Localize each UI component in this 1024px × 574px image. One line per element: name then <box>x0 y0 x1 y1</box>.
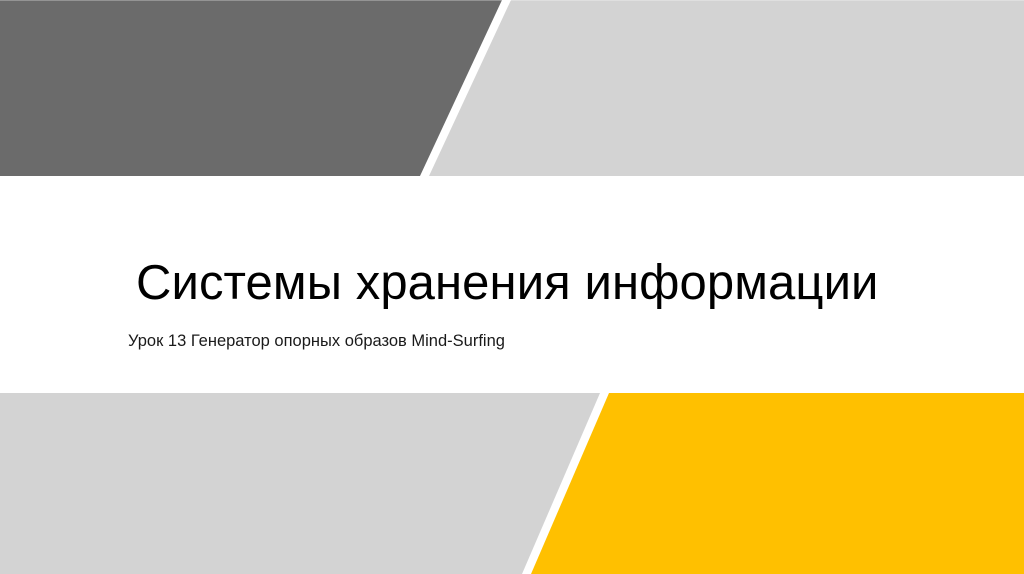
light-gray-parallelogram <box>0 393 610 574</box>
title-text-block: Системы хранения информации Урок 13 Гене… <box>0 176 1024 393</box>
top-decor-band <box>0 0 1024 176</box>
dark-gray-parallelogram <box>0 0 510 176</box>
title-slide: Системы хранения информации Урок 13 Гене… <box>0 0 1024 574</box>
bottom-decor-band <box>0 393 1024 574</box>
page-title: Системы хранения информации <box>136 258 879 310</box>
page-subtitle: Урок 13 Генератор опорных образов Mind-S… <box>128 331 505 352</box>
